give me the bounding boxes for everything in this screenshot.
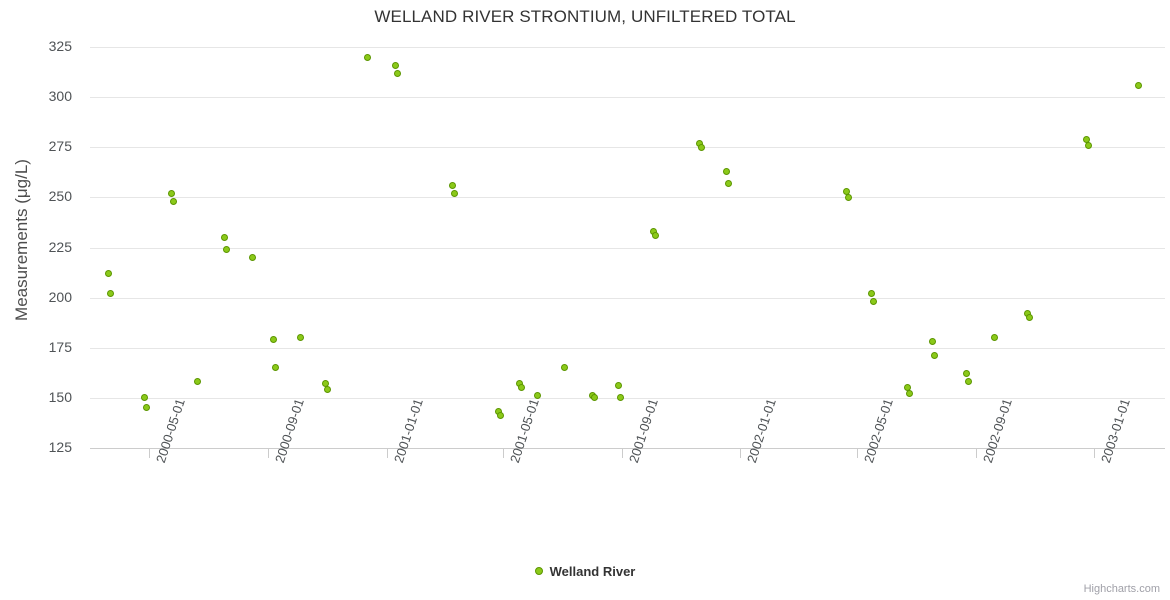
data-point[interactable]: [451, 190, 458, 197]
legend-item-welland-river[interactable]: Welland River: [535, 563, 636, 578]
y-axis-tick-label: 250: [12, 188, 72, 204]
x-axis-tick-mark: [857, 449, 858, 458]
y-axis-tick-label: 275: [12, 138, 72, 154]
data-point[interactable]: [652, 232, 659, 239]
gridline: [90, 47, 1165, 48]
chart-legend: Welland River: [0, 563, 1170, 579]
data-point[interactable]: [845, 194, 852, 201]
x-axis-tick-mark: [740, 449, 741, 458]
data-point[interactable]: [723, 168, 730, 175]
data-point[interactable]: [143, 404, 150, 411]
chart-title: WELLAND RIVER STRONTIUM, UNFILTERED TOTA…: [0, 7, 1170, 27]
data-point[interactable]: [963, 370, 970, 377]
data-point[interactable]: [364, 54, 371, 61]
y-axis-tick-label: 200: [12, 289, 72, 305]
data-point[interactable]: [868, 290, 875, 297]
data-point[interactable]: [698, 144, 705, 151]
credits-link[interactable]: Highcharts.com: [1084, 583, 1160, 595]
data-point[interactable]: [725, 180, 732, 187]
y-axis-tick-label: 325: [12, 38, 72, 54]
x-axis-tick-mark: [387, 449, 388, 458]
data-point[interactable]: [392, 62, 399, 69]
data-point[interactable]: [394, 70, 401, 77]
gridline: [90, 147, 1165, 148]
data-point[interactable]: [297, 334, 304, 341]
data-point[interactable]: [107, 290, 114, 297]
data-point[interactable]: [105, 270, 112, 277]
gridline: [90, 298, 1165, 299]
data-point[interactable]: [870, 298, 877, 305]
data-point[interactable]: [518, 384, 525, 391]
y-axis-tick-label: 175: [12, 339, 72, 355]
legend-item-label: Welland River: [550, 564, 636, 579]
data-point[interactable]: [906, 390, 913, 397]
y-axis-tick-label: 225: [12, 239, 72, 255]
x-axis-tick-mark: [503, 449, 504, 458]
y-axis-tick-label: 150: [12, 389, 72, 405]
x-axis-line: [90, 448, 1165, 449]
y-axis-tick-label: 300: [12, 88, 72, 104]
data-point[interactable]: [141, 394, 148, 401]
data-point[interactable]: [449, 182, 456, 189]
data-point[interactable]: [168, 190, 175, 197]
data-point[interactable]: [194, 378, 201, 385]
data-point[interactable]: [617, 394, 624, 401]
gridline: [90, 348, 1165, 349]
data-point[interactable]: [223, 246, 230, 253]
data-point[interactable]: [615, 382, 622, 389]
plot-area: [90, 40, 1165, 450]
data-point[interactable]: [1026, 314, 1033, 321]
data-point[interactable]: [991, 334, 998, 341]
data-point[interactable]: [561, 364, 568, 371]
data-point[interactable]: [324, 386, 331, 393]
x-axis-tick-mark: [622, 449, 623, 458]
legend-marker-icon: [535, 567, 543, 575]
chart-container: WELLAND RIVER STRONTIUM, UNFILTERED TOTA…: [0, 0, 1170, 600]
data-point[interactable]: [1135, 82, 1142, 89]
gridline: [90, 97, 1165, 98]
data-point[interactable]: [270, 336, 277, 343]
gridline: [90, 248, 1165, 249]
x-axis-tick-mark: [1094, 449, 1095, 458]
x-axis-tick-mark: [976, 449, 977, 458]
data-point[interactable]: [170, 198, 177, 205]
data-point[interactable]: [965, 378, 972, 385]
gridline: [90, 197, 1165, 198]
data-point[interactable]: [931, 352, 938, 359]
data-point[interactable]: [1085, 142, 1092, 149]
data-point[interactable]: [249, 254, 256, 261]
y-axis-tick-label: 125: [12, 439, 72, 455]
data-point[interactable]: [221, 234, 228, 241]
data-point[interactable]: [591, 394, 598, 401]
data-point[interactable]: [929, 338, 936, 345]
data-point[interactable]: [272, 364, 279, 371]
data-point[interactable]: [497, 412, 504, 419]
x-axis-tick-mark: [268, 449, 269, 458]
x-axis-tick-mark: [149, 449, 150, 458]
